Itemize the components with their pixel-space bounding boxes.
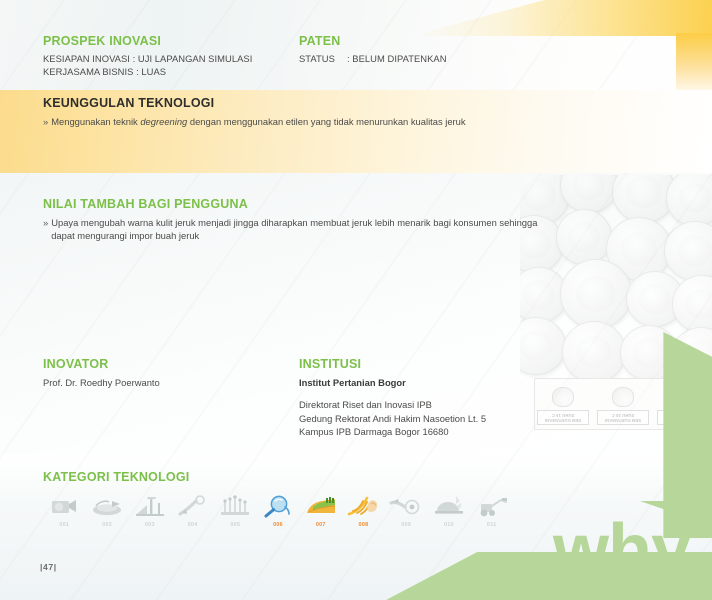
institusi-name: Institut Pertanian Bogor xyxy=(299,376,529,389)
helmet-recycle-icon xyxy=(432,493,466,519)
farmland-icon xyxy=(304,493,338,519)
specimen-fruit-icon xyxy=(552,388,574,408)
paten-status-value: : BELUM DIPATENKAN xyxy=(347,52,447,65)
inovator-title: INOVATOR xyxy=(43,357,273,371)
nilai-tambah-text: Upaya mengubah warna kulit jeruk menjadi… xyxy=(51,216,543,243)
kategori-icon-cell-004[interactable]: 004 xyxy=(171,493,214,528)
kategori-icon-number: 011 xyxy=(470,522,513,528)
section-kategori-teknologi: KATEGORI TEKNOLOGI 001002003004005006007… xyxy=(43,470,513,528)
section-inovator: INOVATOR Prof. Dr. Roedhy Poerwanto xyxy=(43,357,273,389)
bullet-marker: » xyxy=(43,216,48,229)
machinery-icon xyxy=(475,493,509,519)
specimen-fruit-icon xyxy=(612,388,634,408)
gear-hand-icon xyxy=(389,493,423,519)
brand-word-why: why xyxy=(553,519,690,582)
kategori-icon-number: 006 xyxy=(257,522,300,528)
kategori-icon-number: 009 xyxy=(385,522,428,528)
nilai-tambah-title: NILAI TAMBAH BAGI PENGGUNA xyxy=(43,197,543,211)
yellow-strip-decoration xyxy=(676,33,712,93)
paten-title: PATEN xyxy=(299,34,549,48)
bullet-marker: » xyxy=(43,115,48,128)
kategori-icon-number: 004 xyxy=(171,522,214,528)
kategori-icon-number: 005 xyxy=(214,522,257,528)
specimen-label: SEM KUNTAMANI SUHU 15 C xyxy=(537,411,589,426)
prospek-title: PROSPEK INOVASI xyxy=(43,34,293,48)
energy-plant-icon xyxy=(218,493,252,519)
section-prospek-inovasi: PROSPEK INOVASI KESIAPAN INOVASI : UJI L… xyxy=(43,34,293,79)
section-nilai-tambah: NILAI TAMBAH BAGI PENGGUNA » Upaya mengu… xyxy=(43,197,543,243)
keunggulan-title: KEUNGGULAN TEKNOLOGI xyxy=(43,96,623,110)
institusi-address-line: Kampus IPB Darmaga Bogor 16680 xyxy=(299,425,529,438)
kategori-icon-number: 007 xyxy=(299,522,342,528)
institusi-address-line: Gedung Rektorat Andi Hakim Nasoetion Lt.… xyxy=(299,412,529,425)
kategori-icon-row: 001002003004005006007008009010011 xyxy=(43,493,513,528)
inovator-name: Prof. Dr. Roedhy Poerwanto xyxy=(43,376,273,389)
kategori-icon-number: 010 xyxy=(428,522,471,528)
kategori-icon-cell-010[interactable]: 010 xyxy=(428,493,471,528)
page-number: |47| xyxy=(40,562,57,572)
kategori-icon-cell-001[interactable]: 001 xyxy=(43,493,86,528)
wheat-grain-icon xyxy=(347,493,381,519)
institusi-address-line: Direktorat Riset dan Inovasi IPB xyxy=(299,398,529,411)
kategori-icon-cell-008[interactable]: 008 xyxy=(342,493,385,528)
kategori-icon-cell-006[interactable]: 006 xyxy=(257,493,300,528)
kategori-icon-cell-009[interactable]: 009 xyxy=(385,493,428,528)
section-paten: PATEN STATUS : BELUM DIPATENKAN xyxy=(299,34,549,65)
section-institusi: INSTITUSI Institut Pertanian Bogor Direk… xyxy=(299,357,529,438)
paten-status-key: STATUS xyxy=(299,52,347,65)
keunggulan-text-after: dengan menggunakan etilen yang tidak men… xyxy=(187,116,465,127)
rocket-icon xyxy=(176,493,210,519)
institusi-title: INSTITUSI xyxy=(299,357,529,371)
kategori-icon-number: 002 xyxy=(86,522,129,528)
prospek-row: KESIAPAN INOVASI : UJI LAPANGAN SIMULASI xyxy=(43,52,293,65)
camera-icon xyxy=(47,493,81,519)
prospek-row: KERJASAMA BISNIS : LUAS xyxy=(43,65,293,78)
kategori-icon-cell-005[interactable]: 005 xyxy=(214,493,257,528)
kategori-icon-cell-003[interactable]: 003 xyxy=(128,493,171,528)
magnifier-icon xyxy=(261,493,295,519)
kategori-icon-cell-007[interactable]: 007 xyxy=(299,493,342,528)
kategori-icon-number: 003 xyxy=(128,522,171,528)
section-keunggulan-teknologi: KEUNGGULAN TEKNOLOGI » Menggunakan tekni… xyxy=(43,96,623,128)
factory-icon xyxy=(133,493,167,519)
kategori-icon-cell-002[interactable]: 002 xyxy=(86,493,129,528)
food-plate-icon xyxy=(90,493,124,519)
kategori-title: KATEGORI TEKNOLOGI xyxy=(43,470,513,484)
kategori-icon-number: 001 xyxy=(43,522,86,528)
brochure-page: SEM KUNTAMANI SUHU RUANG SEM KUNTAMANI S… xyxy=(0,0,712,600)
keunggulan-text-before: Menggunakan teknik xyxy=(51,116,140,127)
keunggulan-text-italic: degreening xyxy=(140,116,187,127)
specimen-label: SEM KUNTAMANI SUHU 30 C xyxy=(597,411,649,426)
kategori-icon-cell-011[interactable]: 011 xyxy=(470,493,513,528)
kategori-icon-number: 008 xyxy=(342,522,385,528)
keunggulan-text: Menggunakan teknik degreening dengan men… xyxy=(51,115,465,128)
